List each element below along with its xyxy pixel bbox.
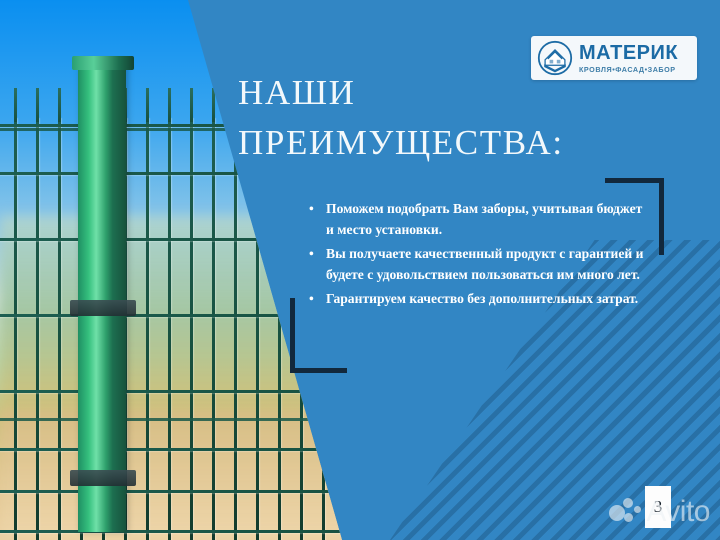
fence-post (78, 62, 126, 532)
list-item: Поможем подобрать Вам заборы, учитывая б… (326, 198, 648, 241)
fence-clamp (70, 300, 136, 316)
list-item: Гарантируем качество без дополнительных … (326, 288, 648, 309)
slide: МАТЕРИК КРОВЛЯ•ФАСАД•ЗАБОР НАШИ ПРЕИМУЩЕ… (0, 0, 720, 540)
logo-name: МАТЕРИК (579, 43, 678, 63)
page-title-line-1: НАШИ (238, 68, 638, 118)
fence-post-cap (72, 56, 134, 70)
list-item: Вы получаете качественный продукт с гара… (326, 243, 648, 286)
page-number: 3 (645, 486, 671, 528)
avito-dots-icon (609, 497, 643, 527)
fence-clamp (70, 470, 136, 486)
page-title-line-2: ПРЕИМУЩЕСТВА: (238, 118, 638, 168)
advantages-list: Поможем подобрать Вам заборы, учитывая б… (308, 198, 648, 311)
page-title: НАШИ ПРЕИМУЩЕСТВА: (238, 68, 638, 167)
